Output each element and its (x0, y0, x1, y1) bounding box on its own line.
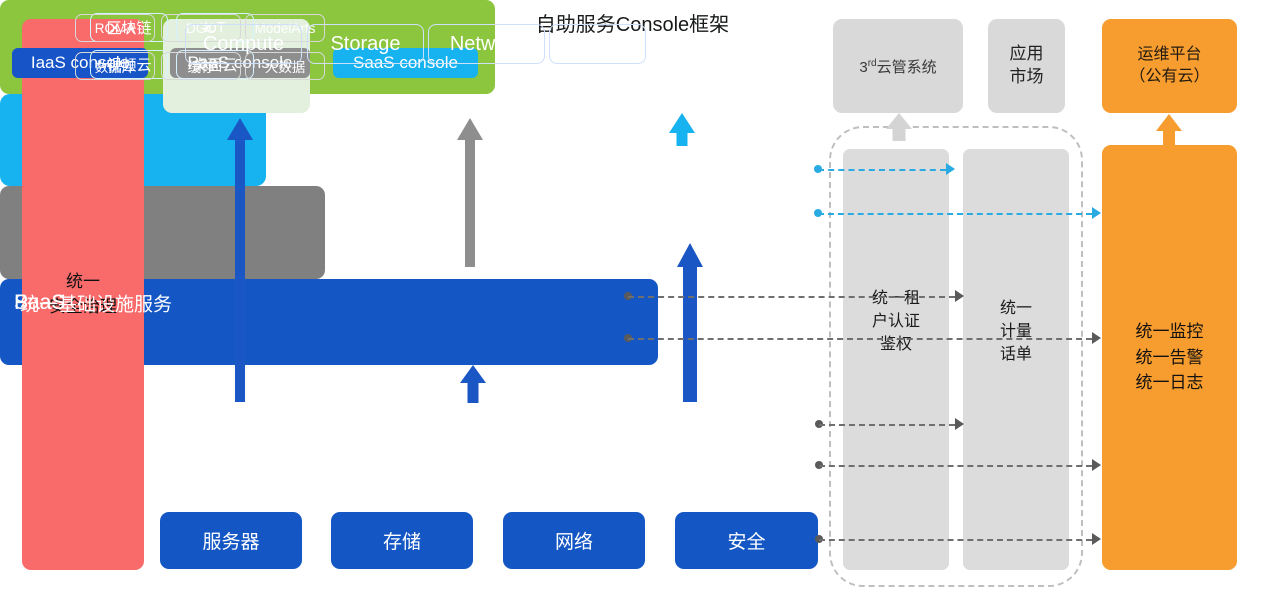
infra-chip-cce[interactable]: CCE (549, 24, 646, 64)
ops-platform-line1: 统一监控 (1136, 319, 1204, 345)
third-party-suffix: 云管系统 (877, 59, 937, 76)
arrowhead-infra-to-metering (955, 418, 964, 430)
ops-platform-line3: 统一日志 (1136, 370, 1204, 396)
infra-chip-network[interactable]: Network (428, 24, 545, 64)
arrowhead-infra-to-ops (1092, 459, 1101, 471)
paas-chip-roma[interactable]: ROMA (75, 14, 155, 42)
hardware-box-network[interactable]: 网络 (503, 512, 645, 569)
arrowhead-saas-to-auth (946, 163, 955, 175)
arrowhead-hardware-to-ops (1092, 533, 1101, 545)
app-market-line1: 应用 (1010, 43, 1044, 66)
connector-infra-to-ops (819, 465, 1092, 467)
ops-platform-top-line1: 运维平台 (1129, 44, 1209, 66)
connector-paas-to-metering (628, 296, 955, 298)
app-market-box: 应用 市场 (988, 19, 1065, 113)
connector-saas-to-ops (818, 213, 1092, 215)
unified-metering-line1: 统一 (963, 297, 1069, 320)
third-party-cloud-mgmt-label: 3rd云管系统 (859, 56, 936, 77)
unified-auth-line1: 统一租 (843, 287, 949, 310)
arrow-ops-tall-to-ops-top (1155, 114, 1183, 145)
ops-platform-top-box: 运维平台 （公有云） (1102, 19, 1237, 113)
third-party-prefix: 3 (859, 59, 867, 76)
unified-auth-line2: 户认证 (843, 310, 949, 333)
connector-infra-to-metering (819, 424, 955, 426)
third-party-cloud-mgmt-box: 3rd云管系统 (833, 19, 963, 113)
ops-platform-tall-box: 统一监控 统一告警 统一日志 (1102, 145, 1237, 570)
hardware-box-storage[interactable]: 存储 (331, 512, 473, 569)
arrow-shared-to-third-cloud (884, 113, 914, 141)
connector-paas-to-ops (628, 338, 1092, 340)
arrow-infra-to-paas (459, 365, 487, 403)
arrowhead-paas-to-metering (955, 290, 964, 302)
arrowhead-paas-to-ops (1092, 332, 1101, 344)
arrow-infra-to-api-gateway (225, 118, 255, 402)
hardware-box-server[interactable]: 服务器 (160, 512, 302, 569)
arrow-infra-to-saas (674, 243, 706, 402)
connector-saas-to-auth (818, 169, 946, 171)
architecture-diagram: 统一 安全治理 API网关 自助服务Console框架 IaaS console… (0, 0, 1265, 605)
hardware-box-security[interactable]: 安全 (675, 512, 818, 569)
arrow-paas-to-console (455, 118, 485, 267)
unified-metering-line3: 话单 (963, 343, 1069, 366)
infrastructure-service-label: 统一基础设施服务 (20, 289, 172, 316)
paas-chip-database[interactable]: 数据库 (75, 52, 155, 80)
arrow-saas-to-console (667, 113, 697, 146)
infra-chip-storage[interactable]: Storage (307, 24, 424, 64)
connector-hardware-to-ops (819, 539, 1092, 541)
app-market-line2: 市场 (1010, 66, 1044, 89)
ops-platform-top-line2: （公有云） (1129, 66, 1209, 88)
third-party-sup: rd (868, 58, 877, 69)
arrowhead-saas-to-ops (1092, 207, 1101, 219)
ops-platform-line2: 统一告警 (1136, 345, 1204, 371)
unified-auth-line3: 鉴权 (843, 333, 949, 356)
infra-chip-compute[interactable]: Compute (185, 24, 302, 64)
